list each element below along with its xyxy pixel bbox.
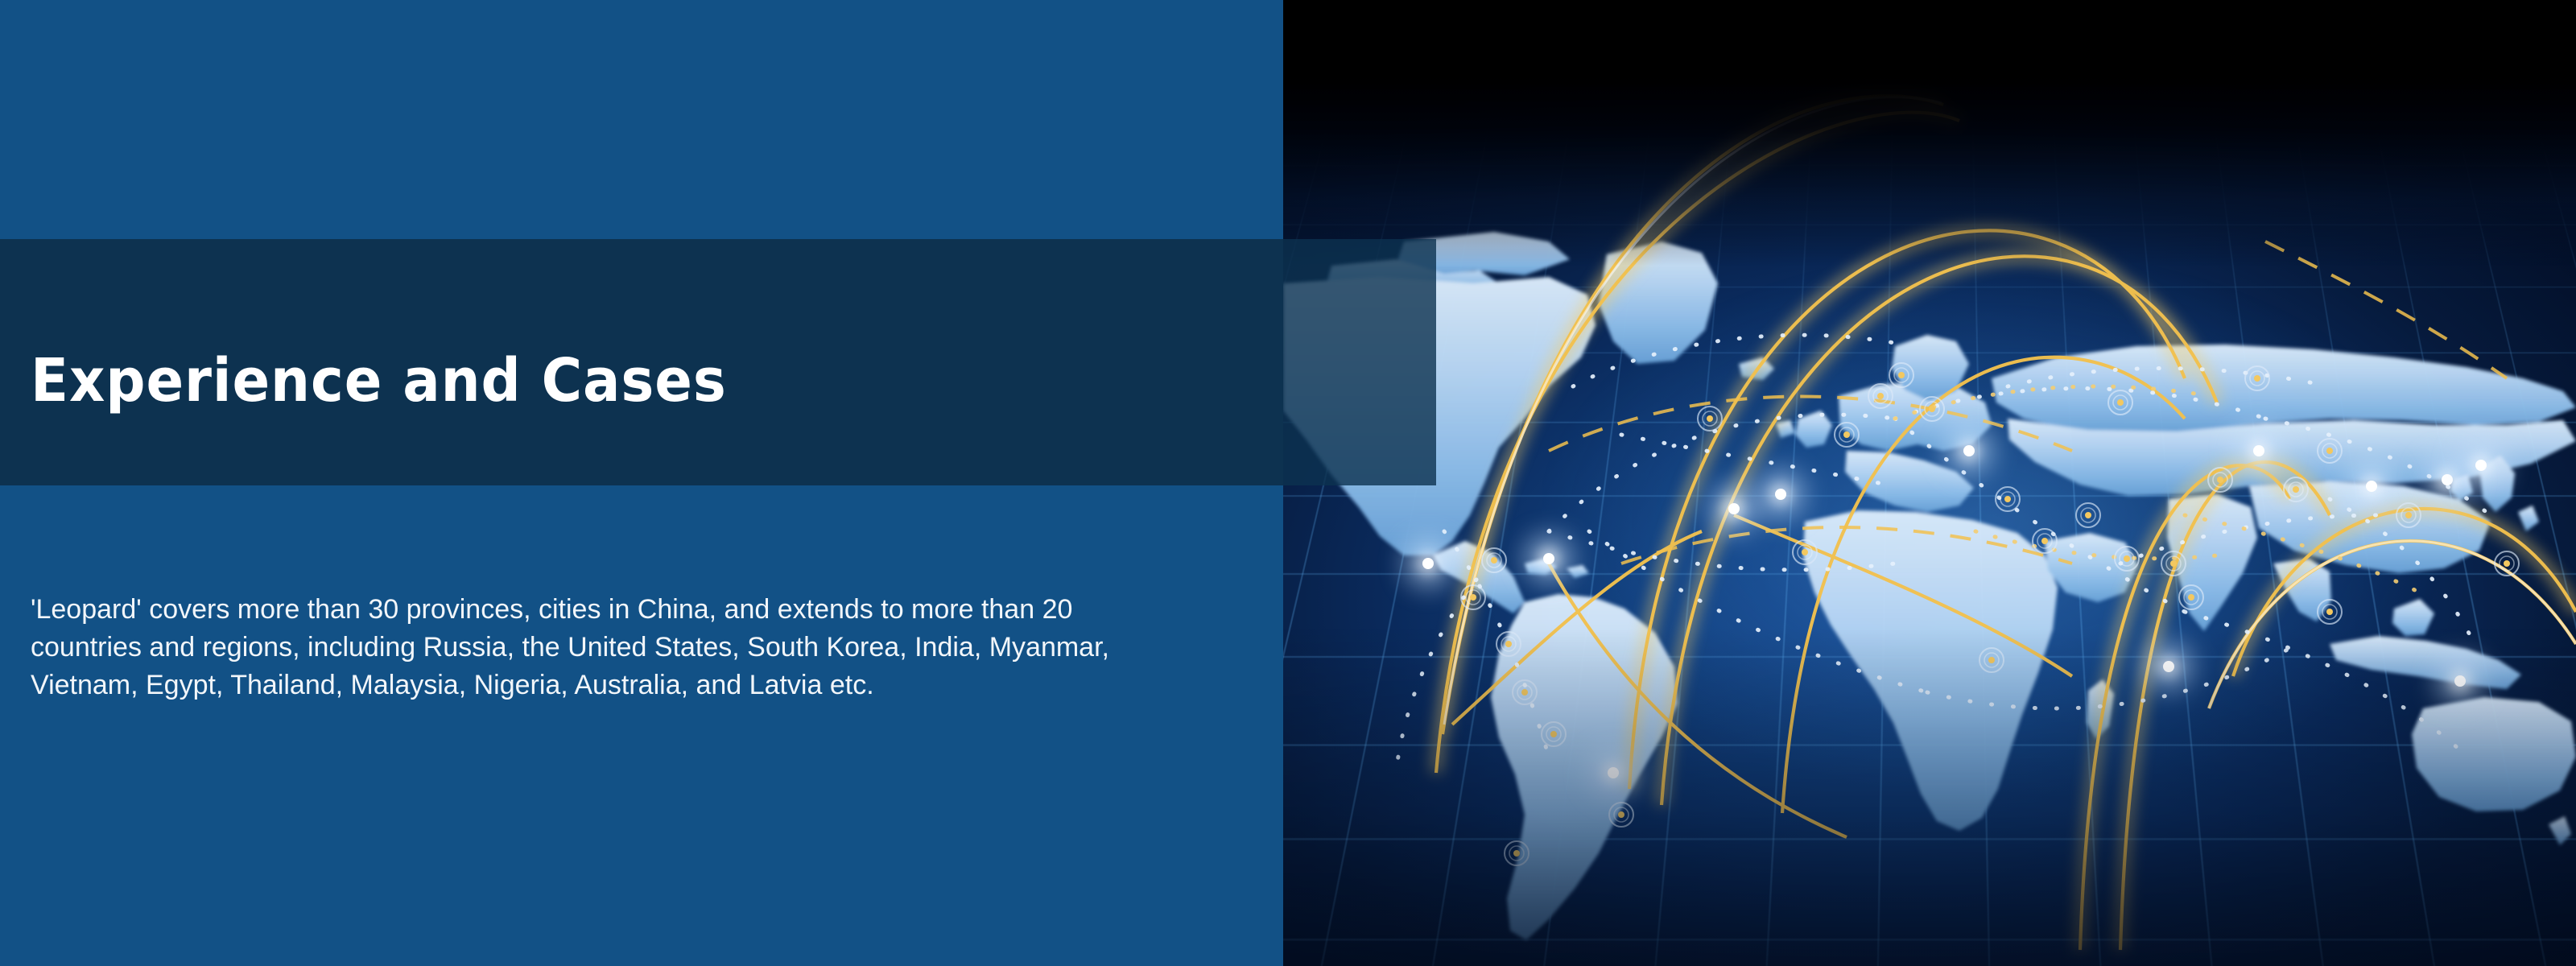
title-band-map-overlay [1283, 239, 1436, 485]
slide-root: Experience and Cases 'Leopard' covers mo… [0, 0, 2576, 966]
map-bottom-fade [1283, 628, 2576, 966]
world-map-graphic [1283, 0, 2576, 966]
body-paragraph: 'Leopard' covers more than 30 provinces,… [31, 591, 1190, 704]
page-title: Experience and Cases [31, 346, 1079, 415]
map-top-fade [1283, 0, 2576, 266]
content-panel: Experience and Cases 'Leopard' covers mo… [0, 0, 1283, 966]
